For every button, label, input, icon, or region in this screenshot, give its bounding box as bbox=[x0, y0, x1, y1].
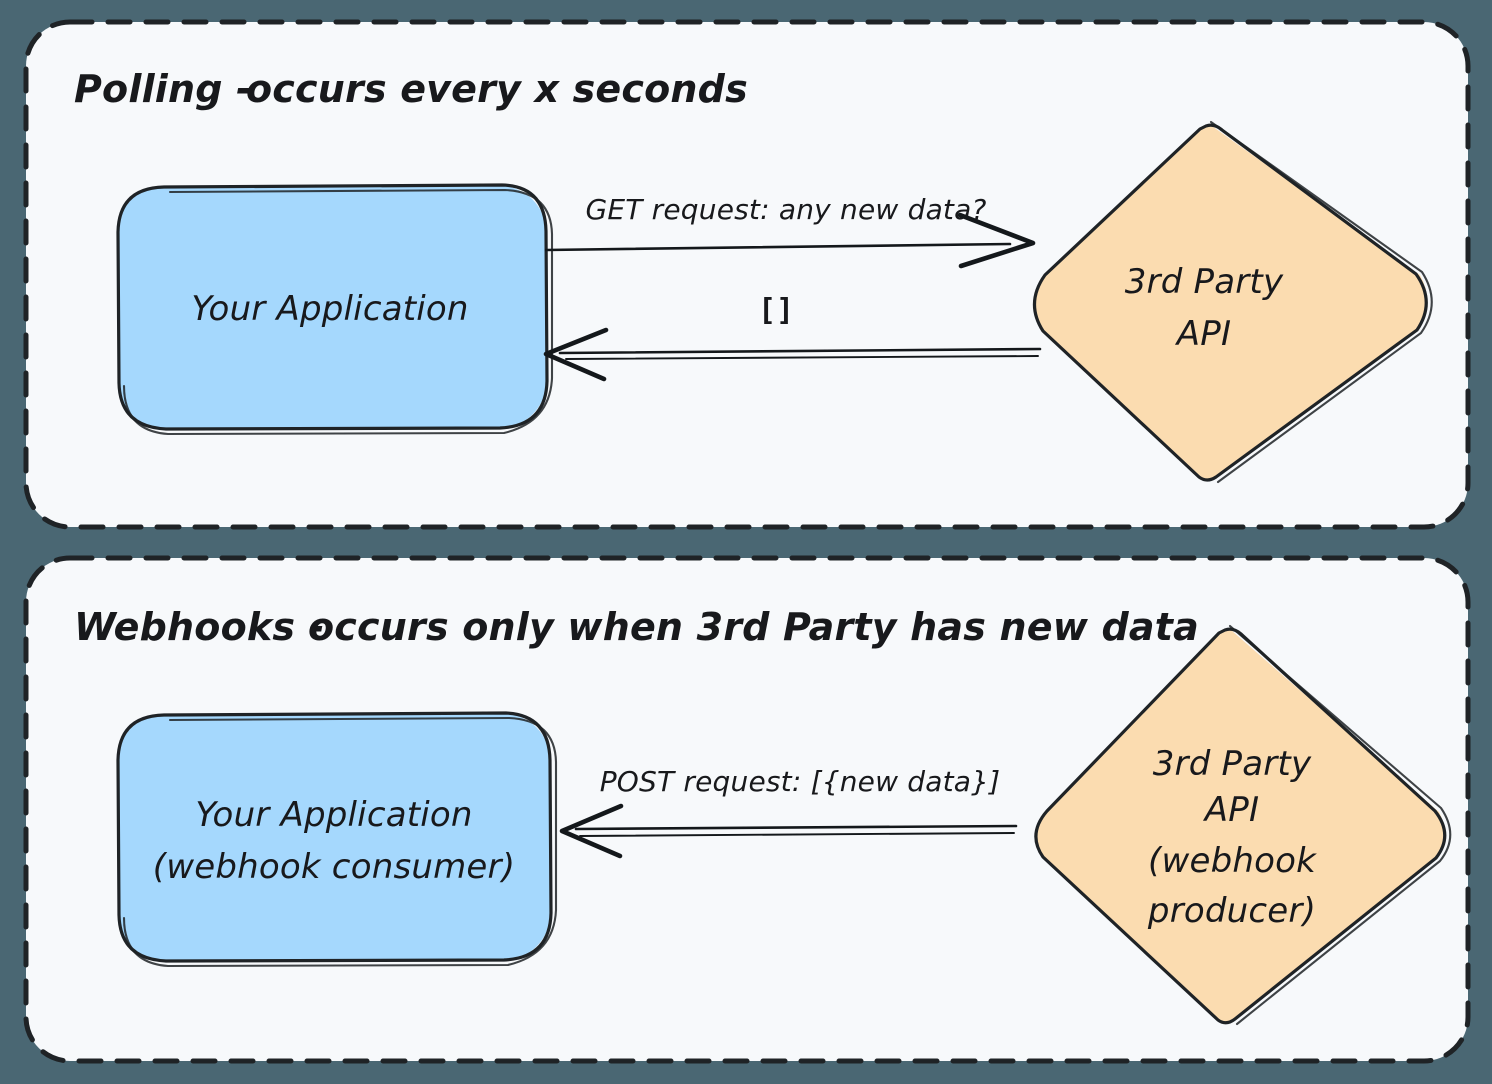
panel-polling: Polling - occurs every x seconds Your Ap… bbox=[26, 22, 1468, 527]
node-your-application-polling[interactable]: Your Application bbox=[118, 185, 552, 434]
node-3rd-party-api-webhooks-label-line-2: API bbox=[1203, 790, 1259, 830]
node-3rd-party-api-webhooks-label-line-4: producer) bbox=[1147, 891, 1316, 931]
panel-webhooks-title-main: Webhooks - bbox=[74, 605, 325, 649]
node-your-application-webhooks-label-line-1: Your Application bbox=[195, 795, 472, 835]
node-3rd-party-api-polling-label-line-1: 3rd Party bbox=[1125, 262, 1284, 302]
panel-polling-title-main: Polling - bbox=[74, 67, 252, 111]
node-3rd-party-api-webhooks-label-line-1: 3rd Party bbox=[1153, 744, 1312, 784]
panel-webhooks: Webhooks - occurs only when 3rd Party ha… bbox=[26, 558, 1468, 1061]
panel-polling-title-accent: occurs every x seconds bbox=[246, 67, 748, 111]
edge-empty-response-label: [] bbox=[758, 293, 794, 328]
edge-post-request-label: POST request: [{new data}] bbox=[600, 765, 1001, 798]
node-your-application-webhooks-fill bbox=[118, 714, 550, 960]
panel-webhooks-title-accent: occurs only when 3rd Party has new data bbox=[308, 605, 1199, 649]
node-your-application-polling-label: Your Application bbox=[191, 289, 468, 329]
polling-vs-webhooks-diagram: Polling - occurs every x seconds Your Ap… bbox=[0, 0, 1492, 1084]
node-3rd-party-api-polling-label-line-2: API bbox=[1175, 314, 1231, 354]
node-3rd-party-api-webhooks-label-line-3: (webhook bbox=[1148, 841, 1317, 881]
diagram-canvas: Polling - occurs every x seconds Your Ap… bbox=[0, 0, 1492, 1084]
node-your-application-webhooks-label-line-2: (webhook consumer) bbox=[153, 847, 515, 887]
edge-get-request-label: GET request: any new data? bbox=[585, 193, 986, 226]
node-your-application-webhooks[interactable]: Your Application (webhook consumer) bbox=[118, 713, 556, 966]
